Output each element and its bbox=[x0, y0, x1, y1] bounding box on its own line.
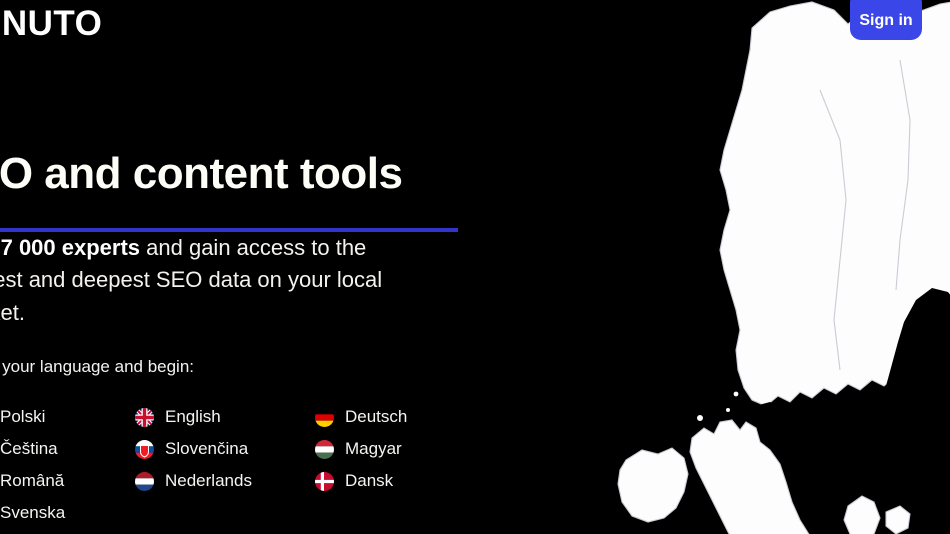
language-option-deutsch[interactable]: Deutsch bbox=[315, 406, 495, 428]
flag-hu-icon bbox=[315, 440, 334, 459]
language-option-english[interactable]: English bbox=[135, 406, 315, 428]
headline-underline bbox=[0, 228, 458, 232]
headline-wrapper: EO and content tools bbox=[0, 150, 520, 198]
language-option-magyar[interactable]: Magyar bbox=[315, 438, 495, 460]
language-label: Čeština bbox=[0, 439, 58, 459]
language-option-romana[interactable]: Română bbox=[0, 470, 135, 492]
subtitle-highlight: 67 000 experts bbox=[0, 235, 140, 260]
language-label: Magyar bbox=[345, 439, 402, 459]
land-hebrides bbox=[697, 415, 703, 421]
sign-in-button[interactable]: Sign in bbox=[850, 0, 922, 40]
language-label: Polski bbox=[0, 407, 45, 427]
language-selector: Polski Čeština Română Svenska bbox=[0, 406, 495, 524]
language-option-nederlands[interactable]: Nederlands bbox=[135, 470, 315, 492]
hero-section: EO and content tools n 67 000 experts an… bbox=[0, 150, 520, 377]
flag-de-icon bbox=[315, 408, 334, 427]
language-label: Dansk bbox=[345, 471, 393, 491]
landing-page: ENUTO Sign in EO and content tools n 67 … bbox=[0, 0, 950, 534]
language-option-slovencina[interactable]: Slovenčina bbox=[135, 438, 315, 460]
language-column-3: Deutsch Magyar Dansk bbox=[315, 406, 495, 524]
language-label: Română bbox=[0, 471, 64, 491]
language-label: Slovenčina bbox=[165, 439, 248, 459]
language-column-1: Polski Čeština Română Svenska bbox=[0, 406, 135, 524]
flag-sk-icon bbox=[135, 440, 154, 459]
flag-gb-icon bbox=[135, 408, 154, 427]
language-option-cestina[interactable]: Čeština bbox=[0, 438, 135, 460]
page-title: EO and content tools bbox=[0, 150, 520, 198]
land-zealand bbox=[886, 506, 910, 534]
language-label: English bbox=[165, 407, 221, 427]
language-option-svenska[interactable]: Svenska bbox=[0, 502, 135, 524]
land-ireland bbox=[618, 448, 688, 522]
language-label: Deutsch bbox=[345, 407, 407, 427]
language-option-polski[interactable]: Polski bbox=[0, 406, 135, 428]
choose-language-label: ose your language and begin: bbox=[0, 357, 520, 377]
flag-dk-icon bbox=[315, 472, 334, 491]
land-shetland bbox=[734, 392, 739, 397]
language-column-2: English Slovenčina Nederlands bbox=[135, 406, 315, 524]
language-option-dansk[interactable]: Dansk bbox=[315, 470, 495, 492]
land-orkney bbox=[726, 408, 730, 412]
land-denmark bbox=[844, 496, 880, 534]
hero-subtitle: n 67 000 experts and gain access to the … bbox=[0, 232, 490, 330]
language-label: Nederlands bbox=[165, 471, 252, 491]
brand-logo[interactable]: ENUTO bbox=[0, 4, 102, 44]
flag-nl-icon bbox=[135, 472, 154, 491]
language-label: Svenska bbox=[0, 503, 65, 523]
